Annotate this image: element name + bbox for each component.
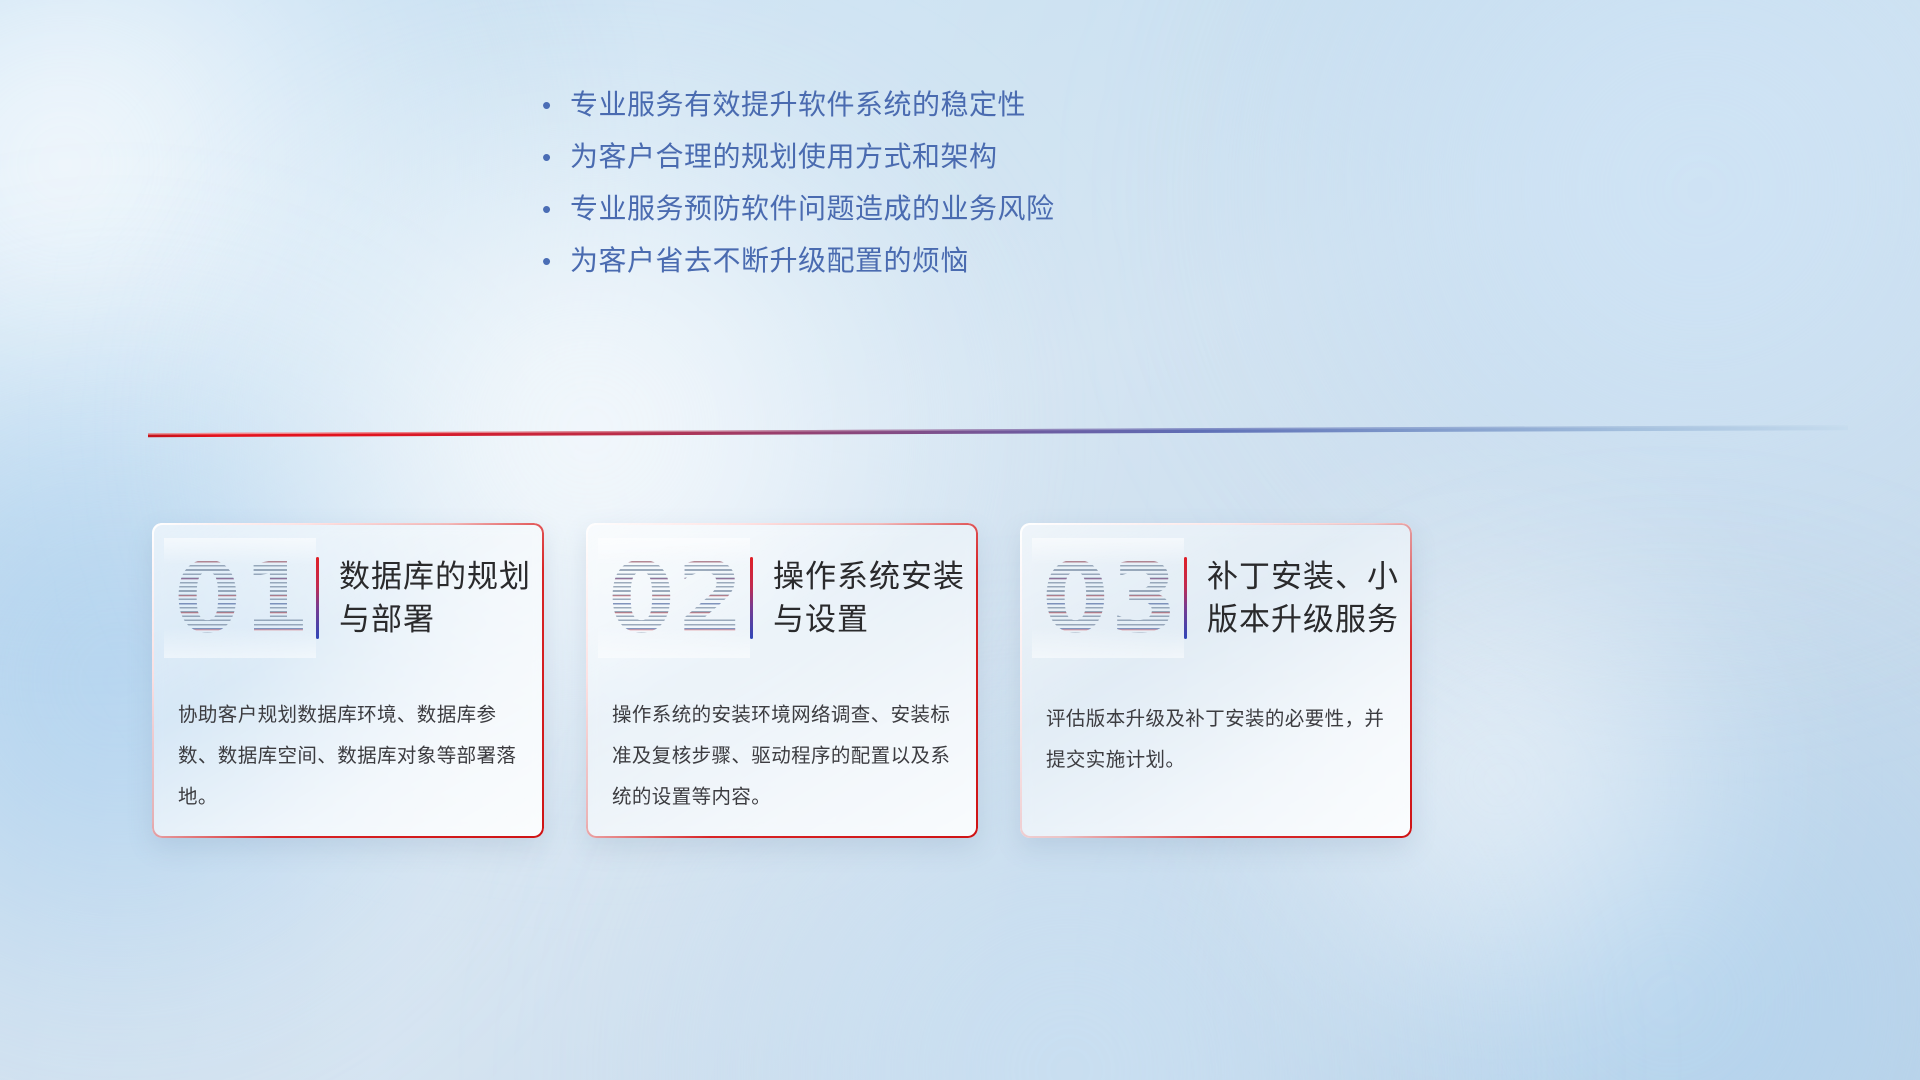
bullet-text: 专业服务预防软件问题造成的业务风险 <box>570 190 1055 228</box>
card-number-watermark: 03 03 03 <box>1042 544 1174 652</box>
bullet-dot-icon: • <box>536 190 570 228</box>
feature-card[interactable]: 03 03 03 补丁安装、小版本升级服务 评估版本升级及补丁安装的必要性，并提… <box>1020 523 1412 838</box>
card-number-watermark: 02 02 02 <box>608 544 740 652</box>
card-title: 补丁安装、小版本升级服务 <box>1207 555 1412 641</box>
list-item: • 为客户合理的规划使用方式和架构 <box>536 138 1296 190</box>
bullet-dot-icon: • <box>536 138 570 176</box>
title-accent-bar <box>1184 557 1187 639</box>
bullet-list: • 专业服务有效提升软件系统的稳定性 • 为客户合理的规划使用方式和架构 • 专… <box>536 86 1296 294</box>
feature-card-list: 01 01 01 数据库的规划与部署 协助客户规划数据库环境、数据库参数、数据库… <box>152 523 1772 838</box>
bullet-text: 为客户省去不断升级配置的烦恼 <box>570 242 969 280</box>
gradient-wedge-divider-icon <box>148 420 1848 442</box>
card-body-text: 操作系统的安装环境网络调查、安装标准及复核步骤、驱动程序的配置以及系统的设置等内… <box>586 673 978 818</box>
list-item: • 专业服务预防软件问题造成的业务风险 <box>536 190 1296 242</box>
bullet-dot-icon: • <box>536 86 570 124</box>
card-body-text: 协助客户规划数据库环境、数据库参数、数据库空间、数据库对象等部署落地。 <box>152 673 544 818</box>
card-title: 数据库的规划与部署 <box>339 555 544 641</box>
feature-card[interactable]: 01 01 01 数据库的规划与部署 协助客户规划数据库环境、数据库参数、数据库… <box>152 523 544 838</box>
card-title: 操作系统安装与设置 <box>773 555 978 641</box>
list-item: • 专业服务有效提升软件系统的稳定性 <box>536 86 1296 138</box>
title-accent-bar <box>316 557 319 639</box>
bullet-dot-icon: • <box>536 242 570 280</box>
list-item: • 为客户省去不断升级配置的烦恼 <box>536 242 1296 294</box>
bullet-text: 为客户合理的规划使用方式和架构 <box>570 138 998 176</box>
feature-card[interactable]: 02 02 02 操作系统安装与设置 操作系统的安装环境网络调查、安装标准及复核… <box>586 523 978 838</box>
section-divider <box>148 420 1848 442</box>
title-accent-bar <box>750 557 753 639</box>
card-header: 03 03 03 补丁安装、小版本升级服务 <box>1020 523 1412 673</box>
card-body-text: 评估版本升级及补丁安装的必要性，并提交实施计划。 <box>1020 673 1412 781</box>
bullet-text: 专业服务有效提升软件系统的稳定性 <box>570 86 1026 124</box>
card-number-watermark: 01 01 01 <box>174 544 306 652</box>
card-header: 01 01 01 数据库的规划与部署 <box>152 523 544 673</box>
card-number-blue-stripes: 01 <box>174 544 306 652</box>
card-number-blue-stripes: 03 <box>1042 544 1174 652</box>
card-number-blue-stripes: 02 <box>608 544 740 652</box>
card-header: 02 02 02 操作系统安装与设置 <box>586 523 978 673</box>
